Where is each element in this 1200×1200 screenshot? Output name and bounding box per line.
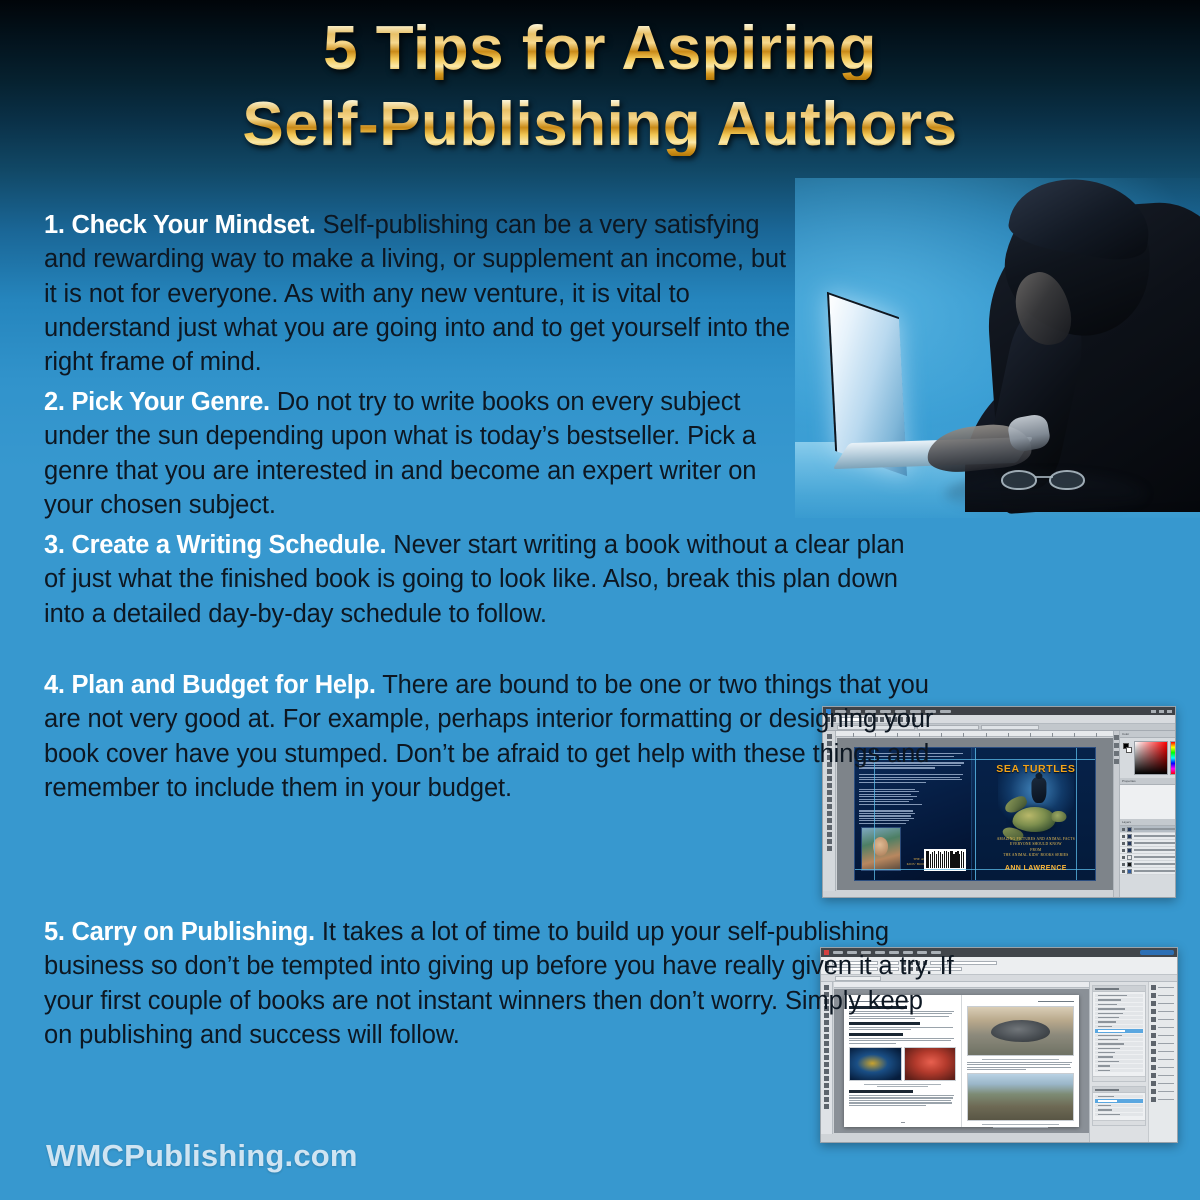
tip-2-heading: 2. Pick Your Genre. xyxy=(44,388,270,416)
poster-title: 5 Tips for Aspiring Self-Publishing Auth… xyxy=(0,18,1200,156)
infographic-poster: 5 Tips for Aspiring Self-Publishing Auth… xyxy=(0,0,1200,1200)
footer-brand: WMCPublishing.com xyxy=(46,1138,358,1174)
title-line-1: 5 Tips for Aspiring xyxy=(0,18,1200,80)
tips-list: 1. Check Your Mindset. Self-publishing c… xyxy=(0,0,1200,1200)
title-line-2: Self-Publishing Authors xyxy=(0,94,1200,156)
tip-item-2: 2. Pick Your Genre. Do not try to write … xyxy=(44,385,784,522)
tip-item-5: 5. Carry on Publishing. It takes a lot o… xyxy=(44,915,956,1052)
tip-item-4: 4. Plan and Budget for Help. There are b… xyxy=(44,668,949,805)
tip-4-heading: 4. Plan and Budget for Help. xyxy=(44,671,376,699)
tip-3-heading: 3. Create a Writing Schedule. xyxy=(44,531,386,559)
tip-1-heading: 1. Check Your Mindset. xyxy=(44,211,316,239)
tip-item-1: 1. Check Your Mindset. Self-publishing c… xyxy=(44,208,796,379)
tip-item-3: 3. Create a Writing Schedule. Never star… xyxy=(44,528,909,631)
tip-5-heading: 5. Carry on Publishing. xyxy=(44,918,315,946)
